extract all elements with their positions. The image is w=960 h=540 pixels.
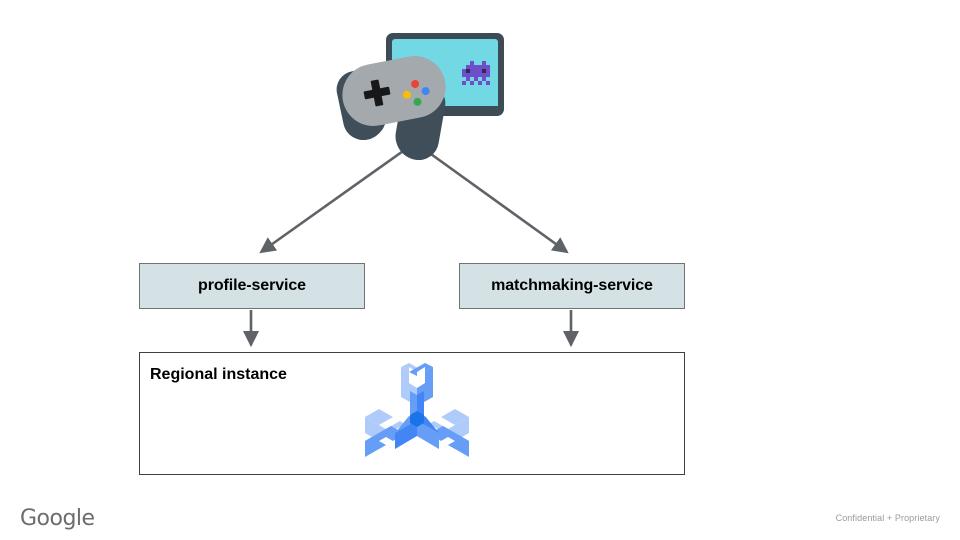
gamepad-button-left xyxy=(402,90,411,99)
google-logo: Google xyxy=(20,506,95,531)
space-invader-sprite xyxy=(462,61,466,65)
compute-engine-icon xyxy=(361,363,473,463)
gamepad-button-right xyxy=(421,86,430,95)
gamepad-dpad-icon xyxy=(362,78,392,108)
regional-instance-label: Regional instance xyxy=(150,366,287,384)
gamepad-button-bottom xyxy=(413,97,422,106)
service-box-label: profile-service xyxy=(198,277,306,295)
gamepad-button-cluster xyxy=(400,78,433,111)
service-box-label: matchmaking-service xyxy=(491,277,653,295)
slide-canvas: profile-service matchmaking-service Regi… xyxy=(0,0,960,540)
gamepad-button-top xyxy=(410,79,419,88)
arrow-client-to-matchmaking xyxy=(417,144,567,252)
confidential-notice: Confidential + Proprietary xyxy=(836,513,940,523)
service-box-matchmaking-service[interactable]: matchmaking-service xyxy=(459,263,685,309)
arrow-client-to-profile xyxy=(261,144,413,252)
game-console-controller-icon xyxy=(336,28,508,146)
service-box-profile-service[interactable]: profile-service xyxy=(139,263,365,309)
